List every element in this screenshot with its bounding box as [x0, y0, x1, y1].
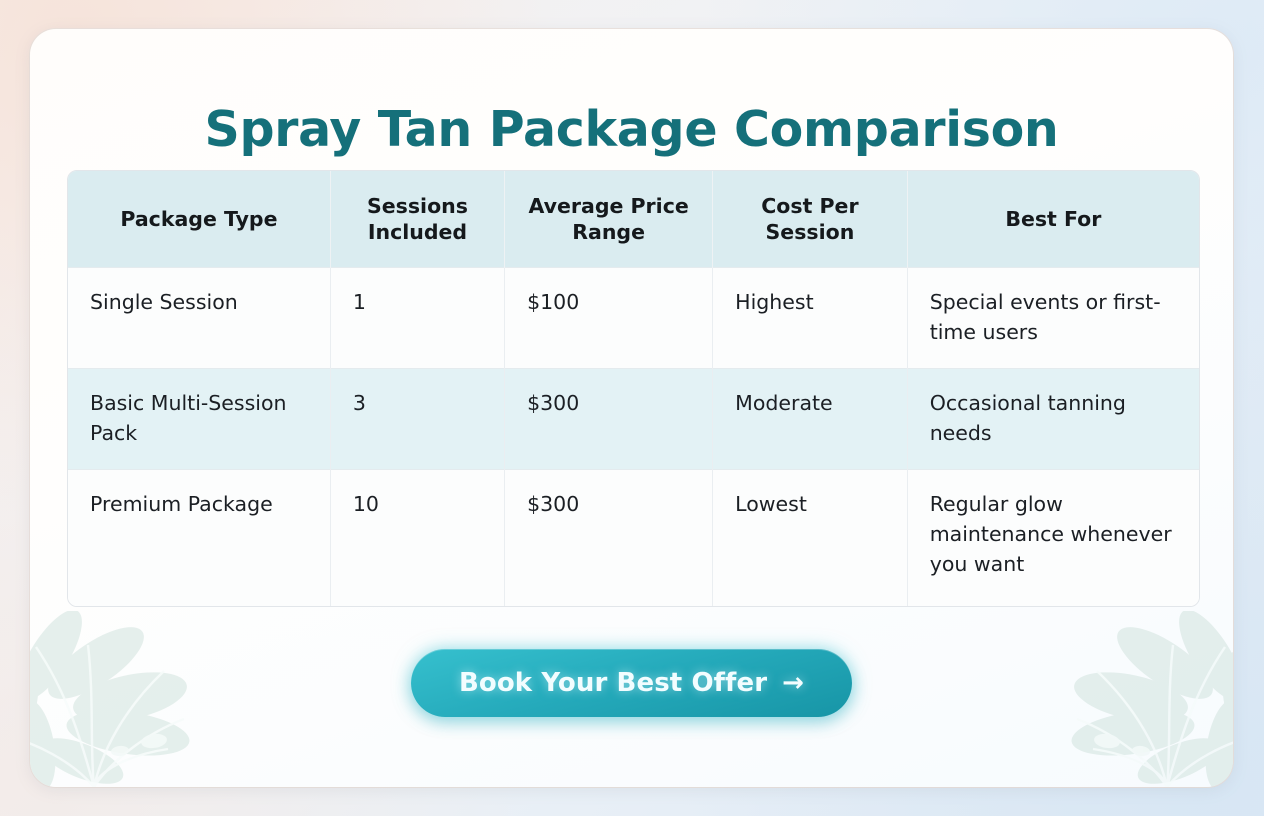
table-row: Single Session 1 $100 Highest Special ev…	[68, 268, 1199, 369]
arrow-right-icon: →	[782, 670, 804, 696]
comparison-table: Package Type Sessions Included Average P…	[67, 170, 1200, 607]
cta-label: Book Your Best Offer	[459, 668, 767, 698]
cell-best-for: Regular glow maintenance whenever you wa…	[907, 470, 1199, 607]
column-header-cost-per-session: Cost Per Session	[713, 171, 908, 268]
book-your-best-offer-button[interactable]: Book Your Best Offer →	[411, 649, 852, 717]
page-background: Spray Tan Package Comparison Package Typ…	[0, 0, 1264, 816]
cell-sessions-included: 1	[330, 268, 504, 369]
cell-average-price-range: $100	[505, 268, 713, 369]
cell-package-type: Single Session	[68, 268, 330, 369]
column-header-sessions-included: Sessions Included	[330, 171, 504, 268]
table-row: Premium Package 10 $300 Lowest Regular g…	[68, 470, 1199, 607]
column-header-best-for: Best For	[907, 171, 1199, 268]
cell-best-for: Occasional tanning needs	[907, 369, 1199, 470]
table-row: Basic Multi-Session Pack 3 $300 Moderate…	[68, 369, 1199, 470]
column-header-average-price-range: Average Price Range	[505, 171, 713, 268]
comparison-card: Spray Tan Package Comparison Package Typ…	[30, 29, 1233, 787]
cell-sessions-included: 3	[330, 369, 504, 470]
page-title: Spray Tan Package Comparison	[30, 101, 1233, 158]
cell-cost-per-session: Lowest	[713, 470, 908, 607]
cell-cost-per-session: Moderate	[713, 369, 908, 470]
column-header-package-type: Package Type	[68, 171, 330, 268]
cta-container: Book Your Best Offer →	[30, 649, 1233, 717]
table-header-row: Package Type Sessions Included Average P…	[68, 171, 1199, 268]
cell-package-type: Basic Multi-Session Pack	[68, 369, 330, 470]
cell-best-for: Special events or first-time users	[907, 268, 1199, 369]
cell-cost-per-session: Highest	[713, 268, 908, 369]
cell-average-price-range: $300	[505, 369, 713, 470]
cell-package-type: Premium Package	[68, 470, 330, 607]
cell-sessions-included: 10	[330, 470, 504, 607]
cell-average-price-range: $300	[505, 470, 713, 607]
